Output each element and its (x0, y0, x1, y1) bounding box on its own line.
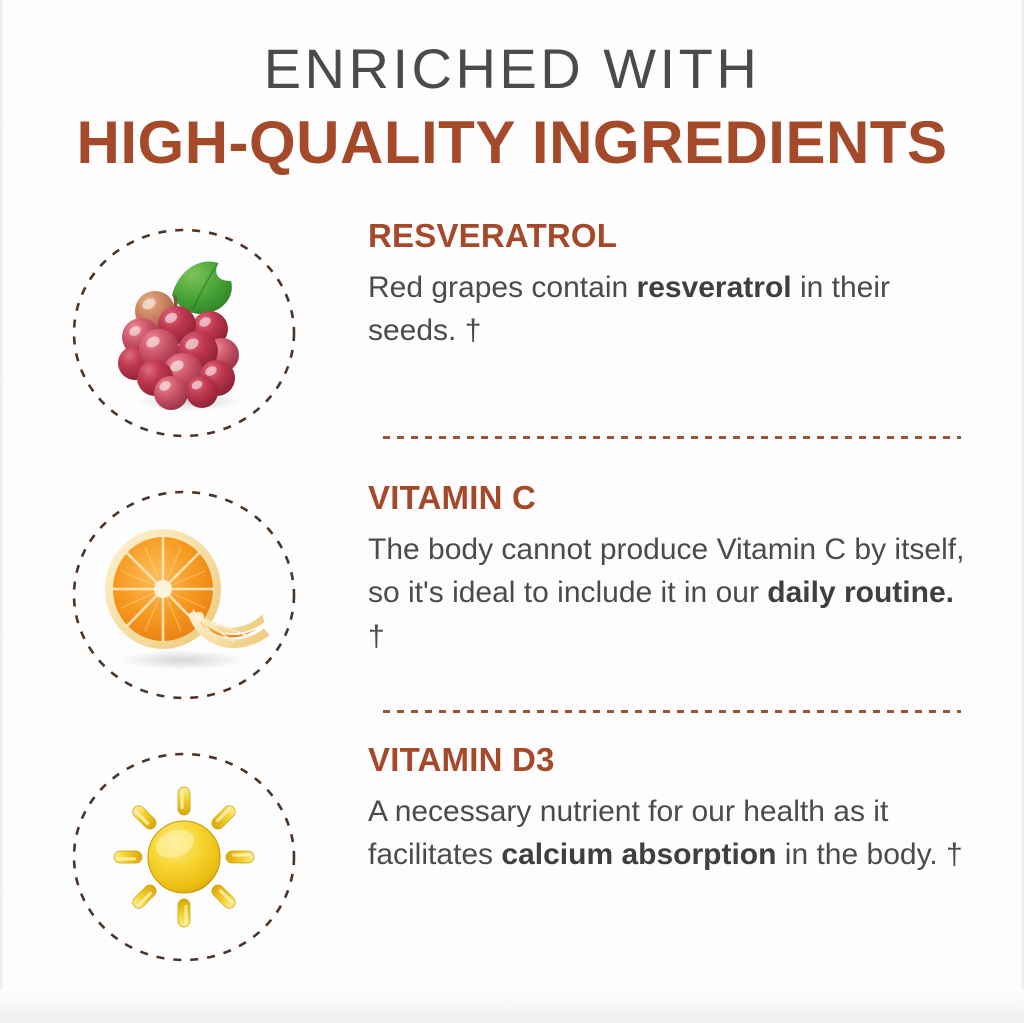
ingredient-row-vitamin-d3: VITAMIN D3 A necessary nutrient for our … (0, 742, 1024, 962)
ingredient-row-vitamin-c: VITAMIN C The body cannot produce Vitami… (0, 480, 1024, 700)
icon-circle-resveratrol (71, 228, 297, 438)
icon-circle-vitamin-d3 (71, 752, 297, 962)
heading-line-1: ENRICHED WITH (0, 38, 1024, 101)
ingredient-title: VITAMIN D3 (368, 742, 968, 778)
page-heading: ENRICHED WITH HIGH-QUALITY INGREDIENTS (0, 38, 1024, 176)
page-bottom-shadow (0, 990, 1024, 1023)
ingredients-infographic: ENRICHED WITH HIGH-QUALITY INGREDIENTS (0, 0, 1024, 1023)
ingredient-title: RESVERATROL (368, 218, 968, 254)
text-cell-vitamin-d3: VITAMIN D3 A necessary nutrient for our … (368, 742, 1024, 877)
orange-slice-icon (97, 513, 272, 678)
section-divider (383, 710, 961, 713)
icon-cell-vitamin-c (0, 480, 368, 700)
ingredient-description: The body cannot produce Vitamin C by its… (368, 528, 968, 658)
ingredient-description: Red grapes contain resveratrol in their … (368, 266, 968, 352)
sun-icon (97, 775, 272, 940)
icon-cell-resveratrol (0, 218, 368, 438)
ingredient-title: VITAMIN C (368, 480, 968, 516)
heading-line-2: HIGH-QUALITY INGREDIENTS (0, 111, 1024, 176)
ingredient-row-resveratrol: RESVERATROL Red grapes contain resveratr… (0, 218, 1024, 438)
icon-cell-vitamin-d3 (0, 742, 368, 962)
text-cell-resveratrol: RESVERATROL Red grapes contain resveratr… (368, 218, 1024, 353)
grapes-icon (97, 251, 272, 416)
ingredient-description: A necessary nutrient for our health as i… (368, 790, 968, 876)
text-cell-vitamin-c: VITAMIN C The body cannot produce Vitami… (368, 480, 1024, 658)
section-divider (383, 436, 961, 439)
icon-circle-vitamin-c (71, 490, 297, 700)
